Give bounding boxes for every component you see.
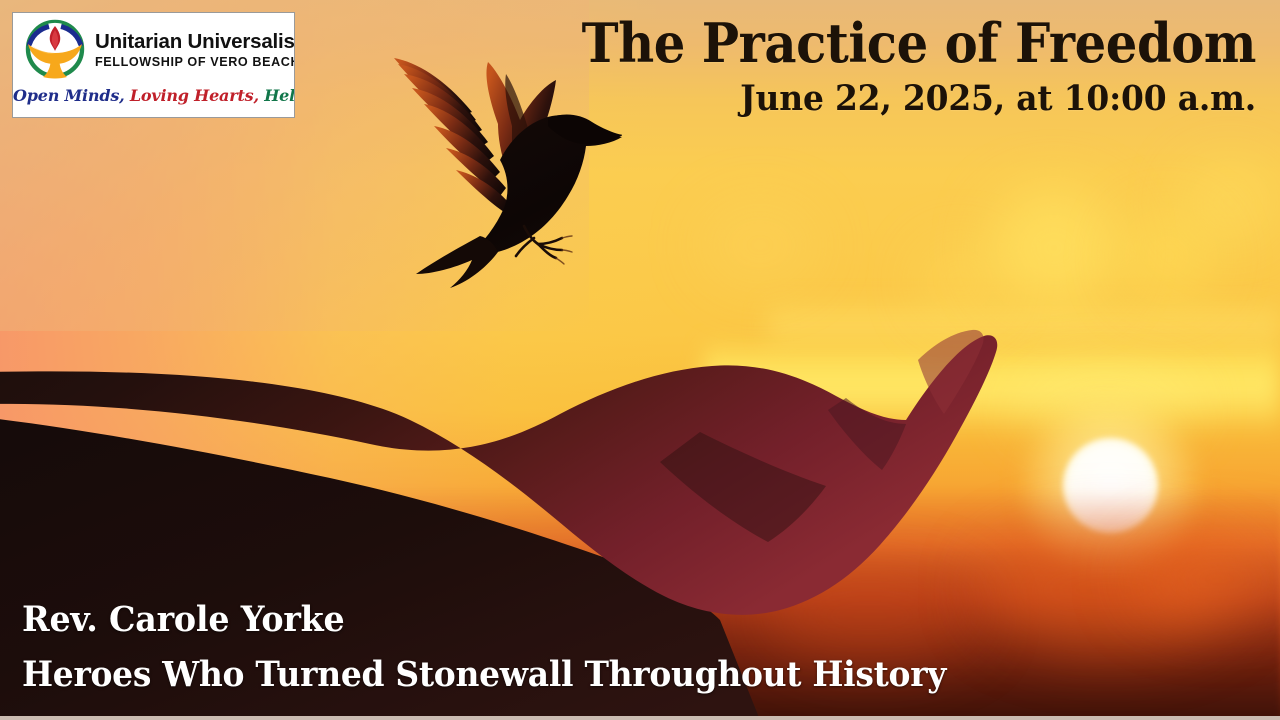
service-datetime: June 22, 2025, at 10:00 a.m. [542,80,1256,119]
uu-flaming-chalice-icon [19,17,91,85]
sermon-announcement-slide: Unitarian Universalist FELLOWSHIP OF VER… [0,0,1280,720]
tagline-part-helping-hands: Helping Hands [264,86,295,105]
logo-tagline: Open Minds, Loving Hearts, Helping Hands [13,86,294,105]
page-title: The Practice of Freedom [557,16,1256,71]
tagline-part-open-minds: Open Minds, [13,86,125,105]
logo-wordmark: Unitarian Universalist FELLOWSHIP OF VER… [95,31,295,70]
footer-text-block: Rev. Carole Yorke Heroes Who Turned Ston… [22,600,1202,694]
uu-fellowship-logo: Unitarian Universalist FELLOWSHIP OF VER… [12,12,295,118]
bottom-edge-strip [0,716,1280,720]
horizon-glow-band [704,338,1280,434]
logo-chapter-name: FELLOWSHIP OF VERO BEACH [95,55,295,71]
speaker-name: Rev. Carole Yorke [22,600,1143,639]
logo-top-row: Unitarian Universalist FELLOWSHIP OF VER… [13,13,294,85]
header-text-block: The Practice of Freedom June 22, 2025, a… [496,16,1256,119]
logo-organization-name: Unitarian Universalist [95,31,295,53]
sermon-title: Heroes Who Turned Stonewall Throughout H… [22,655,1131,694]
tagline-part-loving-hearts: Loving Hearts, [130,86,259,105]
